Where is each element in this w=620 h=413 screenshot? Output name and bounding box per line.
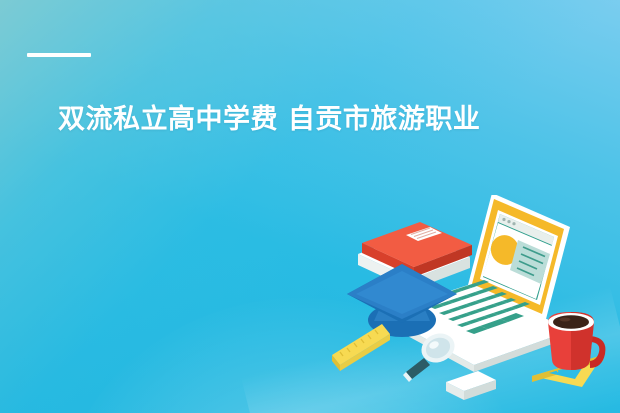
- ruler-icon: [332, 324, 390, 371]
- page-title: 双流私立高中学费 自贡市旅游职业: [58, 100, 578, 140]
- banner-root: 双流私立高中学费 自贡市旅游职业: [0, 0, 620, 413]
- eraser-icon: [446, 371, 496, 400]
- coffee-liquid-icon: [553, 315, 589, 329]
- coffee-mug-icon: [548, 312, 605, 370]
- education-desk-illustration: [320, 195, 620, 413]
- accent-bar: [27, 53, 91, 57]
